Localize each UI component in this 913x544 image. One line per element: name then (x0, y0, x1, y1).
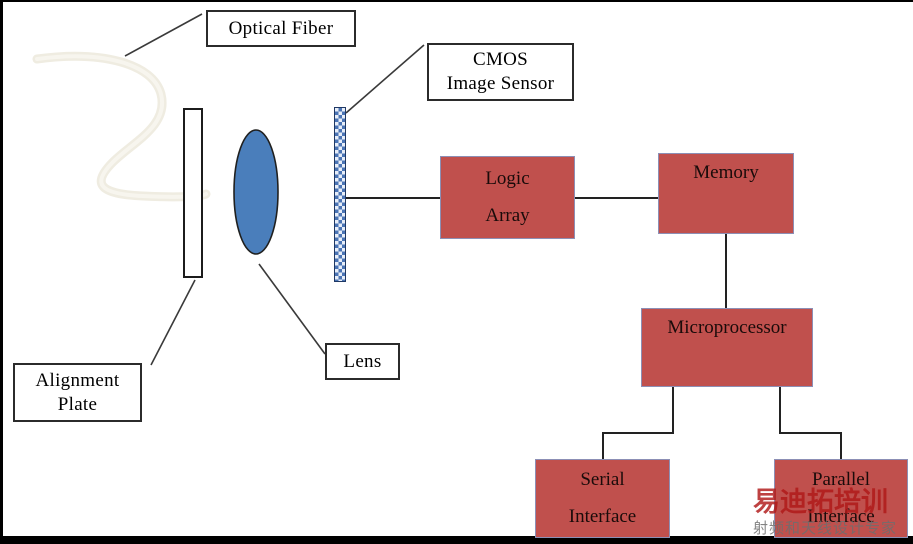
callout-alignment-plate-line-1: Alignment (36, 369, 120, 393)
leader-line-cmos-sensor (346, 45, 424, 113)
block-logic-array[interactable]: Logic Array (440, 156, 575, 239)
callout-alignment-plate: Alignment Plate (13, 363, 142, 422)
lens-shape (234, 130, 278, 254)
block-serial-interface-line-2: Interface (569, 499, 637, 535)
callout-cmos-image-sensor: CMOS Image Sensor (427, 43, 574, 101)
leader-line-alignment-plate (151, 280, 195, 365)
connector-microprocessor-to-parallel (780, 387, 841, 459)
alignment-plate-shape (183, 108, 203, 278)
block-memory-line-1: Memory (693, 162, 758, 185)
block-parallel-interface[interactable]: Parallel Interface (774, 459, 908, 538)
block-serial-interface-line-1: Serial (580, 462, 624, 498)
block-logic-array-line-1: Logic (485, 161, 529, 197)
callout-cmos-line-2: Image Sensor (447, 72, 555, 96)
block-logic-array-line-2: Array (485, 198, 529, 234)
callout-optical-fiber-line-1: Optical Fiber (229, 17, 334, 41)
block-microprocessor-line-1: Microprocessor (667, 317, 786, 340)
callout-cmos-line-1: CMOS (473, 48, 528, 72)
connector-microprocessor-to-serial (603, 387, 673, 459)
callout-alignment-plate-line-2: Plate (58, 393, 98, 417)
block-serial-interface[interactable]: Serial Interface (535, 459, 670, 538)
block-memory[interactable]: Memory (658, 153, 794, 234)
leader-line-lens (259, 264, 325, 354)
optical-fiber-cable (37, 56, 206, 197)
callout-optical-fiber: Optical Fiber (206, 10, 356, 47)
cmos-sensor-shape (334, 107, 346, 282)
leader-line-optical-fiber (125, 14, 202, 56)
block-parallel-interface-line-1: Parallel (812, 462, 870, 498)
block-microprocessor[interactable]: Microprocessor (641, 308, 813, 387)
diagram-canvas: Optical Fiber CMOS Image Sensor Alignmen… (0, 0, 913, 544)
block-parallel-interface-line-2: Interface (807, 499, 875, 535)
callout-lens-line-1: Lens (343, 350, 381, 374)
callout-lens: Lens (325, 343, 400, 380)
